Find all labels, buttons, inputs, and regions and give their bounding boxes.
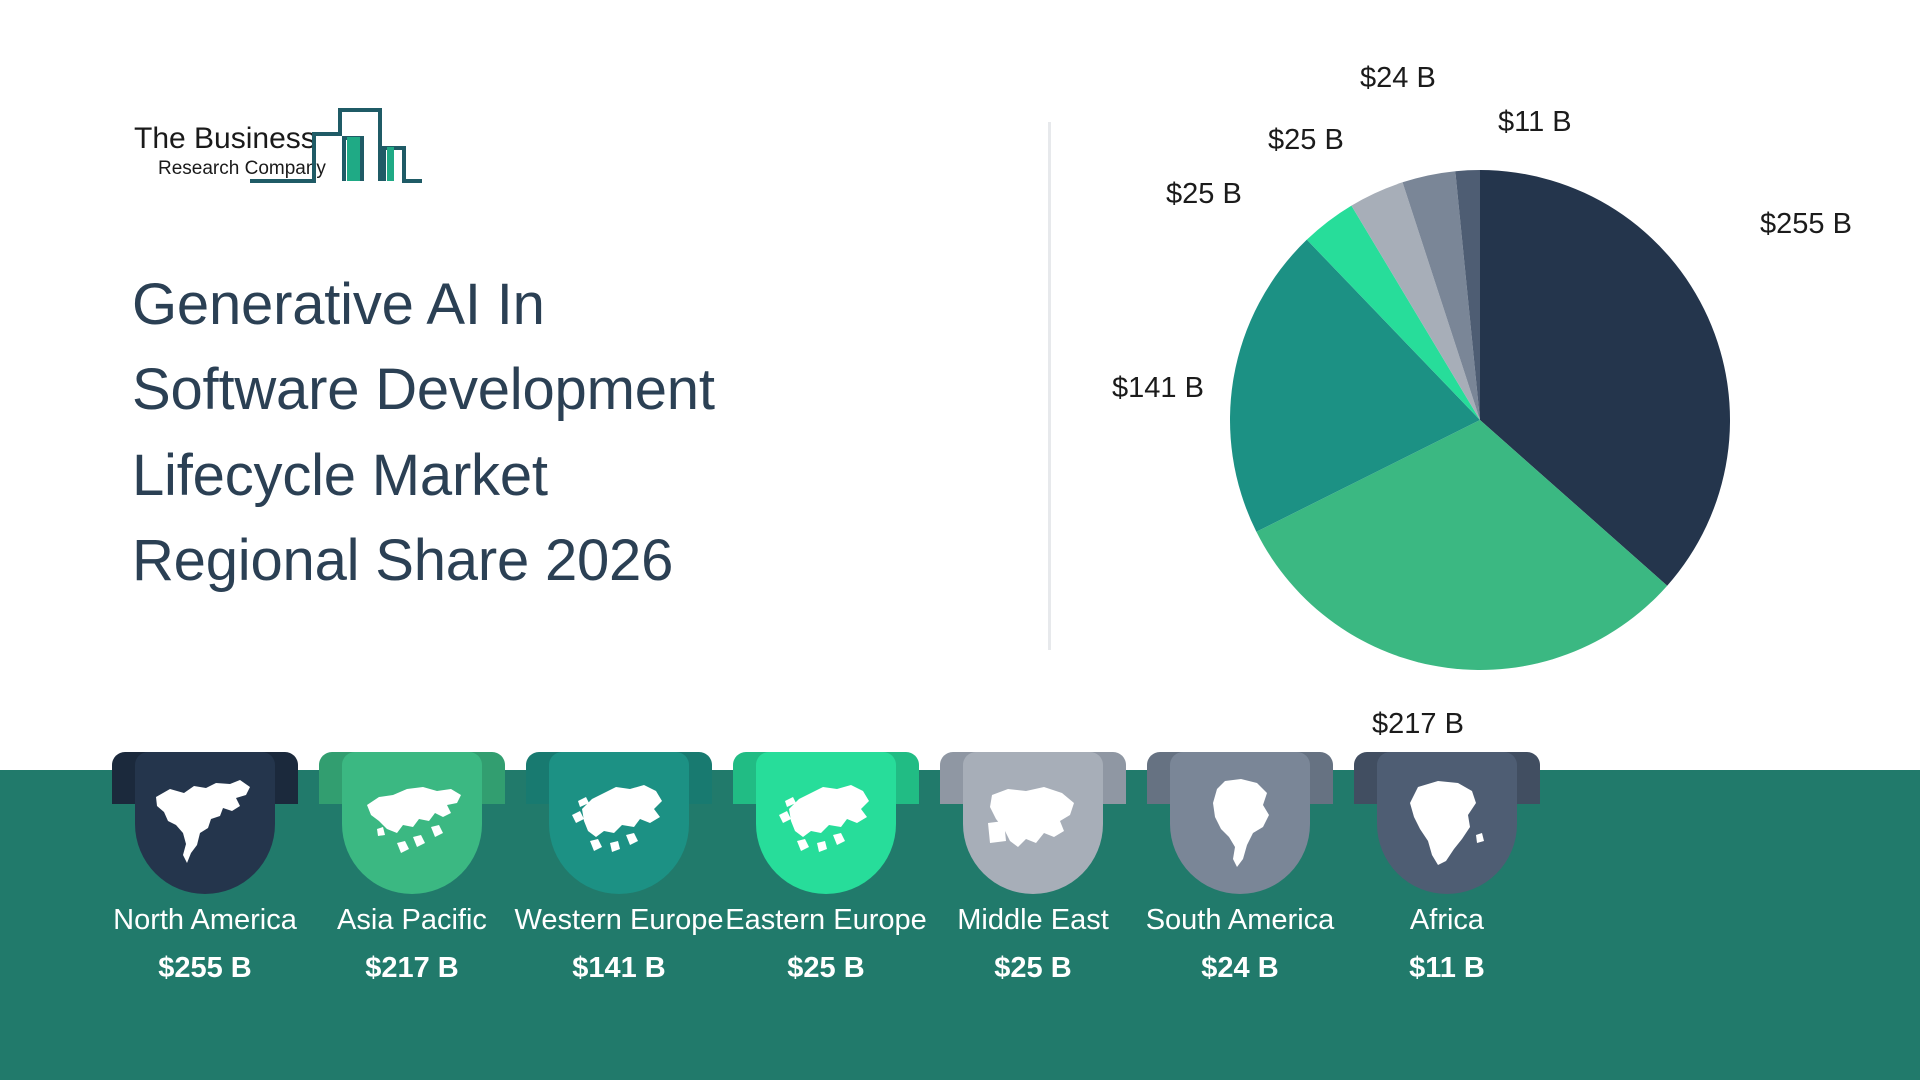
region-value: $255 B [95, 954, 315, 983]
pie-label-asia-pacific: $217 B [1372, 708, 1464, 741]
title-line-4: Regional Share 2026 [132, 518, 932, 603]
badge-body [1170, 752, 1310, 894]
logo-bar-accent-2 [387, 147, 394, 181]
badge-asia-pacific [302, 746, 522, 906]
pie-label-africa: $11 B [1498, 106, 1572, 139]
infographic-canvas: The Business Research Company Generative… [0, 0, 1920, 1080]
regional-share-pie-chart: $255 B $217 B $141 B $25 B $25 B $24 B $… [1060, 20, 1900, 760]
pie-label-middle-east: $25 B [1268, 124, 1344, 157]
region-item-middle-east[interactable]: Middle East $25 B [923, 746, 1143, 983]
region-item-africa[interactable]: Africa $11 B [1337, 746, 1557, 983]
title-line-2: Software Development [132, 347, 932, 432]
badge-body [342, 752, 482, 894]
page-title: Generative AI In Software Development Li… [132, 262, 932, 603]
badge-western-europe [509, 746, 729, 906]
vertical-divider [1048, 122, 1051, 650]
region-value: $24 B [1130, 954, 1350, 983]
badge-africa [1337, 746, 1557, 906]
region-value: $141 B [509, 954, 729, 983]
badge-body [963, 752, 1103, 894]
badge-eastern-europe [716, 746, 936, 906]
region-value: $25 B [716, 954, 936, 983]
title-line-1: Generative AI In [132, 262, 932, 347]
africa-map-icon [1392, 775, 1502, 871]
bar-chart-logo-icon: The Business Research Company [132, 104, 422, 186]
region-value: $11 B [1337, 954, 1557, 983]
logo-text-line1: The Business [134, 122, 316, 155]
pie-label-eastern-europe: $25 B [1166, 178, 1242, 211]
north-america-map-icon [150, 775, 260, 871]
badge-body [756, 752, 896, 894]
pie-label-south-america: $24 B [1360, 62, 1436, 95]
western-europe-map-icon [564, 775, 674, 871]
region-value: $217 B [302, 954, 522, 983]
region-name: Middle East [923, 906, 1143, 935]
title-line-3: Lifecycle Market [132, 433, 932, 518]
badge-middle-east [923, 746, 1143, 906]
badge-body [135, 752, 275, 894]
badge-body [1377, 752, 1517, 894]
asia-pacific-map-icon [357, 775, 467, 871]
region-item-eastern-europe[interactable]: Eastern Europe $25 B [716, 746, 936, 983]
company-logo: The Business Research Company [132, 104, 422, 186]
region-name: Eastern Europe [716, 906, 936, 935]
logo-text-line2: Research Company [158, 158, 326, 179]
middle-east-map-icon [978, 775, 1088, 871]
region-name: Asia Pacific [302, 906, 522, 935]
badge-body [549, 752, 689, 894]
south-america-map-icon [1185, 775, 1295, 871]
region-item-north-america[interactable]: North America $255 B [95, 746, 315, 983]
region-item-western-europe[interactable]: Western Europe $141 B [509, 746, 729, 983]
eastern-europe-map-icon [771, 775, 881, 871]
region-legend: North America $255 B Asia Pacific $217 B [0, 746, 1920, 1080]
pie-label-western-europe: $141 B [1112, 372, 1204, 405]
pie-label-north-america: $255 B [1760, 208, 1852, 241]
region-name: Western Europe [509, 906, 729, 935]
region-name: Africa [1337, 906, 1557, 935]
logo-bar-accent-1 [347, 137, 360, 181]
region-name: North America [95, 906, 315, 935]
region-item-asia-pacific[interactable]: Asia Pacific $217 B [302, 746, 522, 983]
badge-north-america [95, 746, 315, 906]
region-name: South America [1130, 906, 1350, 935]
region-value: $25 B [923, 954, 1143, 983]
region-item-south-america[interactable]: South America $24 B [1130, 746, 1350, 983]
badge-south-america [1130, 746, 1350, 906]
